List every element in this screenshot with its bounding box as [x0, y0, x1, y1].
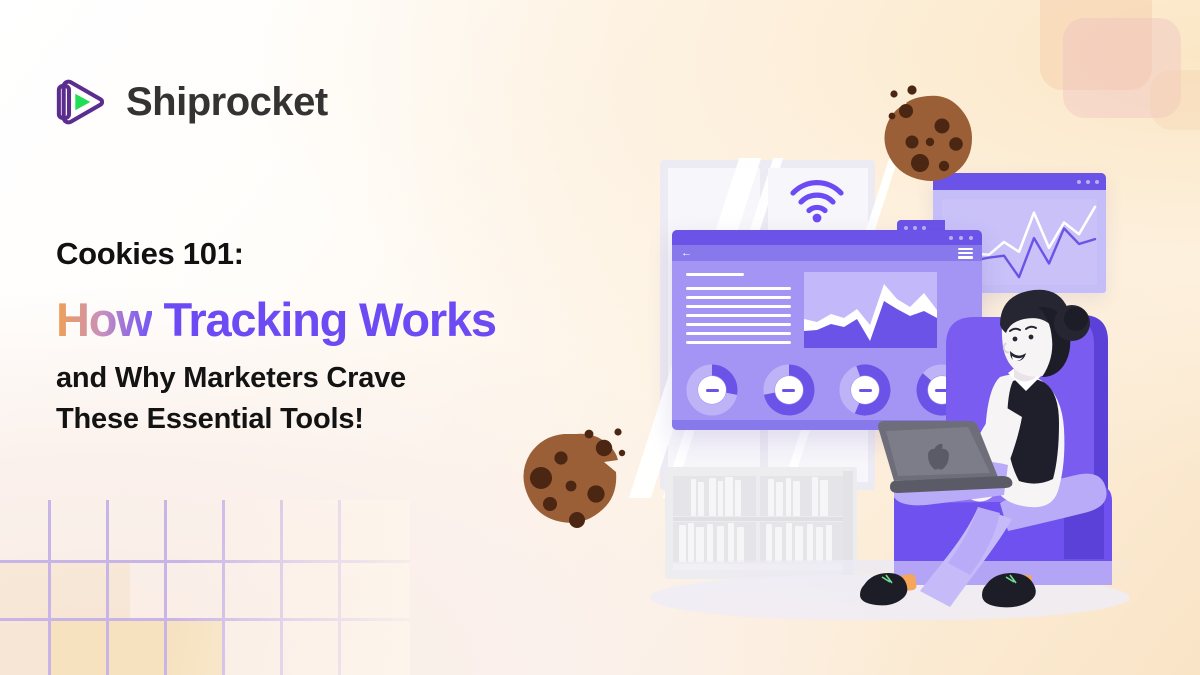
subline-row-2: These Essential Tools!: [56, 399, 406, 440]
text-line: [686, 323, 791, 326]
headline-purple-text: Tracking Works: [152, 293, 496, 346]
headline-kicker: Cookies 101:: [56, 236, 244, 272]
bookshelf-bay-2: [760, 476, 843, 516]
bookshelf-board-1: [673, 517, 843, 521]
donut-center: [775, 376, 803, 404]
window-dot-3: [969, 236, 973, 240]
seated-woman-with-laptop: [850, 285, 1170, 615]
subline-row-1: and Why Marketers Crave: [56, 358, 406, 399]
cookie-top-right: [868, 78, 988, 188]
window-dot-3: [1095, 180, 1099, 184]
text-line: [686, 341, 791, 344]
donut-2: [763, 364, 815, 416]
window-dot-2: [959, 236, 963, 240]
minus-icon: [706, 389, 719, 392]
text-line: [686, 305, 791, 308]
text-line: [686, 287, 791, 290]
hamburger-menu-icon[interactable]: [958, 248, 973, 259]
hero-illustration: ←: [500, 40, 1200, 640]
bookshelf-bay-3: [673, 522, 756, 562]
window-dot-1: [1077, 180, 1081, 184]
text-line: [686, 332, 791, 335]
text-line-heading: [686, 273, 744, 276]
minus-icon: [782, 389, 795, 392]
dashboard-toolbar: ←: [672, 245, 982, 261]
headline-main: How Tracking Works: [56, 292, 496, 347]
donut-center: [698, 376, 726, 404]
decor-grid-pattern: [0, 500, 410, 675]
wifi-signal-icon: [787, 175, 847, 223]
cookie-bottom-left: [514, 420, 644, 542]
dashboard-titlebar: [672, 230, 982, 245]
promo-banner: Shiprocket Cookies 101: How Tracking Wor…: [0, 0, 1200, 675]
grid-fade-overlay: [0, 500, 410, 675]
window-dot-2: [1086, 180, 1090, 184]
bookshelf-bay-1: [673, 476, 756, 516]
brand-wordmark: Shiprocket: [126, 80, 328, 125]
donut-1: [686, 364, 738, 416]
window-dot-1: [949, 236, 953, 240]
text-line: [686, 296, 791, 299]
bookshelf-bay-4: [760, 522, 843, 562]
dashboard-text-placeholder: [686, 273, 791, 350]
text-line: [686, 314, 791, 317]
shiprocket-play-triangle-logo-icon: [55, 73, 113, 131]
back-arrow-icon[interactable]: ←: [681, 248, 692, 259]
headline-gradient-word: How: [56, 293, 152, 346]
brand-logo[interactable]: Shiprocket: [55, 73, 328, 131]
headline-subline: and Why Marketers Crave These Essential …: [56, 358, 406, 440]
